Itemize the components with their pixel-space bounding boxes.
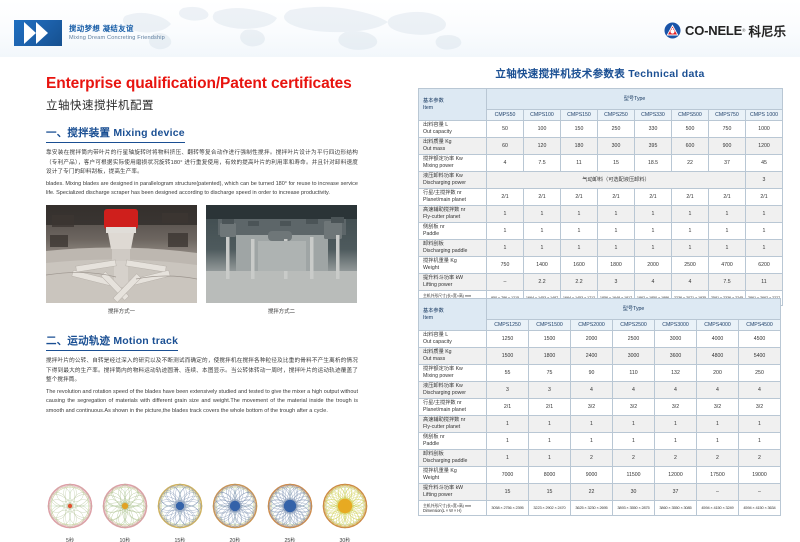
cell: 2.2 bbox=[524, 274, 561, 291]
cell: 15 bbox=[487, 484, 529, 501]
cell: 1 bbox=[529, 433, 571, 450]
cell: 4000 bbox=[697, 331, 739, 348]
motion-track-cell: 15秒 bbox=[156, 482, 204, 542]
header-item-cell: 基本参数Item bbox=[419, 299, 487, 331]
chevron-logo-icon bbox=[14, 20, 62, 46]
cell: 2/1 bbox=[561, 189, 598, 206]
motion-track-label: 20秒 bbox=[211, 537, 259, 542]
cell: 3 bbox=[487, 382, 529, 399]
cell: 7000 bbox=[487, 467, 529, 484]
cell: 11 bbox=[746, 274, 783, 291]
cell: 1 bbox=[598, 223, 635, 240]
header-item-cell: 基本参数Item bbox=[419, 89, 487, 121]
cell: 1 bbox=[571, 433, 613, 450]
cell: 1250 bbox=[487, 331, 529, 348]
brochure-page: 搅动梦想 凝结友谊 Mixing Dream Concreting Friend… bbox=[0, 0, 800, 542]
cell: 2 bbox=[697, 450, 739, 467]
row-label: 出料质量 KgOut mass bbox=[419, 348, 487, 365]
cell: 1000 bbox=[746, 121, 783, 138]
cell: 2/1 bbox=[598, 189, 635, 206]
cell: 1800 bbox=[529, 348, 571, 365]
model-cell: CMPS150 bbox=[561, 110, 598, 121]
cell: 180 bbox=[561, 138, 598, 155]
motion-track-label: 10秒 bbox=[101, 537, 149, 542]
cell: 3000 bbox=[613, 348, 655, 365]
page-header: 搅动梦想 凝结友谊 Mixing Dream Concreting Friend… bbox=[0, 0, 800, 57]
cell: 4 bbox=[655, 382, 697, 399]
photo1-caption: 搅拌方式一 bbox=[46, 307, 197, 315]
table-row: 侧刮板 nrPaddle11111111 bbox=[419, 223, 783, 240]
table-row: 行星/主搅拌数 nrPlanet/main planet2/12/13/23/2… bbox=[419, 399, 781, 416]
motion-track-diagram bbox=[321, 482, 369, 530]
motion-track-label: 5秒 bbox=[46, 537, 94, 542]
cell: – bbox=[739, 484, 781, 501]
cell: 1 bbox=[697, 416, 739, 433]
model-cell: CMPS1500 bbox=[529, 320, 571, 331]
cell: 1 bbox=[598, 240, 635, 257]
cell: – bbox=[697, 484, 739, 501]
cell: 1 bbox=[487, 416, 529, 433]
cell: 3860 × 3550 × 3085 bbox=[655, 501, 697, 516]
cell: 110 bbox=[613, 365, 655, 382]
cell: 395 bbox=[635, 138, 672, 155]
cell: 1 bbox=[487, 240, 524, 257]
cell: 2/1 bbox=[529, 399, 571, 416]
cell: 1 bbox=[487, 433, 529, 450]
motion-track-row: 5秒 10秒 15秒 bbox=[46, 482, 358, 542]
section1-heading: 一、搅拌装置 Mixing device bbox=[46, 125, 185, 143]
table-row: 出料质量 KgOut mass1500180024003000360048005… bbox=[419, 348, 781, 365]
cell: 1 bbox=[613, 433, 655, 450]
row-label: 出料质量 KgOut mass bbox=[419, 138, 487, 155]
cell: 5400 bbox=[739, 348, 781, 365]
table-row: 出料容量 LOut capacity5010015025033050075010… bbox=[419, 121, 783, 138]
table-row: 行星/主搅拌数 nrPlanet/main planet2/12/12/12/1… bbox=[419, 189, 783, 206]
header-type-cell: 型号Type bbox=[487, 89, 783, 110]
cell: 2/1 bbox=[746, 189, 783, 206]
motion-track-label: 25秒 bbox=[266, 537, 314, 542]
right-page: 立轴快速搅拌机技术参数表 Technical data 基本参数Item 型号T… bbox=[400, 57, 800, 542]
motion-track-diagram bbox=[101, 482, 149, 530]
cell: 4 bbox=[739, 382, 781, 399]
cell: 1 bbox=[529, 450, 571, 467]
model-cell: CMPS2000 bbox=[571, 320, 613, 331]
cell: 330 bbox=[635, 121, 672, 138]
cell: 37 bbox=[709, 155, 746, 172]
registered-mark-icon: ® bbox=[742, 28, 745, 33]
photo2-caption: 搅拌方式二 bbox=[206, 307, 357, 315]
cell: 1600 bbox=[561, 257, 598, 274]
cell: – bbox=[487, 274, 524, 291]
model-cell: CMPS 1000 bbox=[746, 110, 783, 121]
cell: 1 bbox=[746, 206, 783, 223]
technical-data-title: 立轴快速搅拌机技术参数表 Technical data bbox=[400, 66, 800, 81]
section1-paragraph-cn: 靠安装在搅拌筒内带叶片的行星轴旋转时将物料挤压、翻转等复合动作进行强制性搅拌。搅… bbox=[46, 149, 358, 178]
table-row: 提升料斗功率 kWLifting power–2.22.23447.511 bbox=[419, 274, 783, 291]
company-logo: 搅动梦想 凝结友谊 Mixing Dream Concreting Friend… bbox=[14, 20, 165, 46]
spec-table-1: 基本参数Item 型号Type CMPS50CMPS100CMPS150CMPS… bbox=[418, 88, 783, 306]
cell: 1 bbox=[529, 416, 571, 433]
row-label: 主机外形尺寸(长×宽×高) mmDimension(L × W × H) bbox=[419, 501, 487, 516]
motion-track-diagram bbox=[266, 482, 314, 530]
row-label: 液压卸料功率 KwDischarging power bbox=[419, 382, 487, 399]
table-row: 高速辅助搅拌数 nrFly-cutter planet11111111 bbox=[419, 206, 783, 223]
table-row: 高速辅助搅拌数 nrFly-cutter planet1111111 bbox=[419, 416, 781, 433]
model-cell: CMPS4000 bbox=[697, 320, 739, 331]
row-label: 卸料刮板Discharging paddle bbox=[419, 450, 487, 467]
cell: 2500 bbox=[613, 331, 655, 348]
cell: 4 bbox=[697, 382, 739, 399]
cell: 2500 bbox=[672, 257, 709, 274]
cell: 500 bbox=[672, 121, 709, 138]
cell: 3/2 bbox=[697, 399, 739, 416]
cell: 4 bbox=[487, 155, 524, 172]
cell: 1 bbox=[672, 240, 709, 257]
motion-track-cell: 25秒 bbox=[266, 482, 314, 542]
cell: 1 bbox=[635, 206, 672, 223]
cell: 3/2 bbox=[739, 399, 781, 416]
cell: 50 bbox=[487, 121, 524, 138]
model-cell: CMPS330 bbox=[635, 110, 672, 121]
model-cell: CMPS250 bbox=[598, 110, 635, 121]
row-label: 搅拌额定功率 KwMixing power bbox=[419, 365, 487, 382]
spec-table-2: 基本参数Item 型号Type CMPS1250CMPS1500CMPS2000… bbox=[418, 298, 781, 516]
row-label: 提升料斗功率 kWLifting power bbox=[419, 484, 487, 501]
cell: 2/1 bbox=[635, 189, 672, 206]
cell: 1 bbox=[739, 433, 781, 450]
cell: 100 bbox=[524, 121, 561, 138]
cell: 1 bbox=[524, 223, 561, 240]
cell: 2 bbox=[613, 450, 655, 467]
cell: 1 bbox=[613, 416, 655, 433]
cell: 1 bbox=[571, 416, 613, 433]
cell: 3000 bbox=[655, 331, 697, 348]
table-row: 搅拌额定功率 KwMixing power47.5111518.5223745 bbox=[419, 155, 783, 172]
cell: 1 bbox=[697, 433, 739, 450]
motion-track-diagram bbox=[156, 482, 204, 530]
row-label: 出料容量 LOut capacity bbox=[419, 331, 487, 348]
row-label: 行星/主搅拌数 nrPlanet/main planet bbox=[419, 189, 487, 206]
page-title-en: Enterprise qualification/Patent certific… bbox=[46, 75, 352, 93]
cell: 30 bbox=[613, 484, 655, 501]
motion-track-cell: 30秒 bbox=[321, 482, 369, 542]
cell: 132 bbox=[655, 365, 697, 382]
model-cell: CMPS500 bbox=[672, 110, 709, 121]
spec-table-2-wrap: 基本参数Item 型号Type CMPS1250CMPS1500CMPS2000… bbox=[418, 298, 781, 516]
cell: 1 bbox=[739, 416, 781, 433]
model-cell: CMPS50 bbox=[487, 110, 524, 121]
cell: 8000 bbox=[529, 467, 571, 484]
cell: 1 bbox=[635, 240, 672, 257]
table-row: 搅拌机重量 KgWeight70008000900011500120001750… bbox=[419, 467, 781, 484]
row-label: 高速辅助搅拌数 nrFly-cutter planet bbox=[419, 206, 487, 223]
cell: 15 bbox=[598, 155, 635, 172]
cell: 1 bbox=[561, 206, 598, 223]
cell: 2.2 bbox=[561, 274, 598, 291]
table-row: 搅拌额定功率 KwMixing power557590110132200250 bbox=[419, 365, 781, 382]
row-label: 行星/主搅拌数 nrPlanet/main planet bbox=[419, 399, 487, 416]
cell: 3 bbox=[529, 382, 571, 399]
cell: 3/2 bbox=[571, 399, 613, 416]
cell: 1 bbox=[709, 223, 746, 240]
cell: 1 bbox=[635, 223, 672, 240]
cell: 1200 bbox=[746, 138, 783, 155]
model-cell: CMPS3000 bbox=[655, 320, 697, 331]
cell: 900 bbox=[709, 138, 746, 155]
cell: 1 bbox=[487, 206, 524, 223]
cell: 3223 × 2902 × 2470 bbox=[529, 501, 571, 516]
table-header-row: 基本参数Item 型号Type bbox=[419, 89, 783, 110]
motion-track-cell: 10秒 bbox=[101, 482, 149, 542]
row-label: 侧刮板 nrPaddle bbox=[419, 433, 487, 450]
cell: 2/1 bbox=[487, 399, 529, 416]
header-type-cell: 型号Type bbox=[487, 299, 781, 320]
cell: 150 bbox=[561, 121, 598, 138]
cell: 1 bbox=[524, 206, 561, 223]
cell: 120 bbox=[524, 138, 561, 155]
motion-track-diagram bbox=[211, 482, 259, 530]
table-row: 侧刮板 nrPaddle1111111 bbox=[419, 433, 781, 450]
cell: 4594 × 4150 × 3249 bbox=[697, 501, 739, 516]
row-label: 搅拌机重量 KgWeight bbox=[419, 257, 487, 274]
left-page: Enterprise qualification/Patent certific… bbox=[0, 57, 400, 542]
model-cell: CMPS4500 bbox=[739, 320, 781, 331]
row-label: 出料容量 LOut capacity bbox=[419, 121, 487, 138]
merged-discharging-cell: 气动卸料（可选配液压卸料） bbox=[487, 172, 746, 189]
row-label: 侧刮板 nrPaddle bbox=[419, 223, 487, 240]
table-row: 卸料刮板Discharging paddle11111111 bbox=[419, 240, 783, 257]
table-row: 提升料斗功率 kWLifting power1515223037–– bbox=[419, 484, 781, 501]
cell: 60 bbox=[487, 138, 524, 155]
cell: 4500 bbox=[739, 331, 781, 348]
mixing-blade-photo bbox=[46, 205, 197, 303]
table-row: 出料容量 LOut capacity1250150020002500300040… bbox=[419, 331, 781, 348]
cell: 2400 bbox=[571, 348, 613, 365]
cell: 1 bbox=[655, 416, 697, 433]
mixing-arm-photo bbox=[206, 205, 357, 303]
cell: 1 bbox=[561, 223, 598, 240]
cell: 1500 bbox=[487, 348, 529, 365]
cell: 6200 bbox=[746, 257, 783, 274]
cell: 22 bbox=[571, 484, 613, 501]
photo-row bbox=[46, 205, 358, 303]
cell: 1400 bbox=[524, 257, 561, 274]
cell: 7.5 bbox=[709, 274, 746, 291]
cell: 2 bbox=[739, 450, 781, 467]
cell: 1 bbox=[598, 206, 635, 223]
cell: 75 bbox=[529, 365, 571, 382]
cell: 250 bbox=[739, 365, 781, 382]
cell: 1 bbox=[524, 240, 561, 257]
section-mixing-device: 一、搅拌装置 Mixing device 靠安装在搅拌筒内带叶片的行星轴旋转时将… bbox=[46, 123, 358, 199]
cell: 600 bbox=[672, 138, 709, 155]
table-row: 卸料刮板Discharging paddle1122222 bbox=[419, 450, 781, 467]
cell: 2000 bbox=[635, 257, 672, 274]
cell: 2/1 bbox=[524, 189, 561, 206]
cell: 18.5 bbox=[635, 155, 672, 172]
cell: 9000 bbox=[571, 467, 613, 484]
cell: 1 bbox=[487, 223, 524, 240]
cell: 1 bbox=[672, 206, 709, 223]
row-label: 搅拌机重量 KgWeight bbox=[419, 467, 487, 484]
cell: 300 bbox=[598, 138, 635, 155]
brand-lockup: CO-NELE ® 科尼乐 bbox=[664, 21, 786, 40]
section2-paragraph-cn: 搅拌叶片的公转、自转是经过深入的研究以及不断测试而确定的，使搅拌机在搅拌各种粒径… bbox=[46, 357, 358, 386]
table-row: 出料质量 KgOut mass601201803003956009001200 bbox=[419, 138, 783, 155]
cell: 3893 × 3550 × 2875 bbox=[613, 501, 655, 516]
cell: 2/1 bbox=[487, 189, 524, 206]
row-label: 提升料斗功率 kWLifting power bbox=[419, 274, 487, 291]
cell: 750 bbox=[487, 257, 524, 274]
photo-caption-row: 搅拌方式一 搅拌方式二 bbox=[46, 307, 358, 315]
cell: 4 bbox=[635, 274, 672, 291]
cell: 55 bbox=[487, 365, 529, 382]
table-row: 主机外形尺寸(长×宽×高) mmDimension(L × W × H)3058… bbox=[419, 501, 781, 516]
cell: 1 bbox=[561, 240, 598, 257]
tagline-cn: 搅动梦想 凝结友谊 bbox=[69, 25, 165, 33]
cell: 1 bbox=[746, 223, 783, 240]
cell: 1 bbox=[746, 240, 783, 257]
cell: 4594 × 4150 × 3634 bbox=[739, 501, 781, 516]
cell: 3/2 bbox=[613, 399, 655, 416]
cell: 2 bbox=[571, 450, 613, 467]
section2-paragraph-en: The revolution and rotation speed of the… bbox=[46, 388, 358, 416]
cell: 2 bbox=[655, 450, 697, 467]
cell: 1 bbox=[655, 433, 697, 450]
cell: 11500 bbox=[613, 467, 655, 484]
row-label: 高速辅助搅拌数 nrFly-cutter planet bbox=[419, 416, 487, 433]
section2-heading: 二、运动轨迹 Motion track bbox=[46, 333, 178, 351]
triangle-emblem-icon bbox=[664, 22, 681, 39]
cell: 1800 bbox=[598, 257, 635, 274]
cell: 90 bbox=[571, 365, 613, 382]
cell: 7.5 bbox=[524, 155, 561, 172]
cell: 15 bbox=[529, 484, 571, 501]
cell: 1 bbox=[672, 223, 709, 240]
model-cell: CMPS100 bbox=[524, 110, 561, 121]
cell: 2/1 bbox=[709, 189, 746, 206]
table-row: 液压卸料功率 KwDischarging power3344444 bbox=[419, 382, 781, 399]
cell: 1 bbox=[487, 450, 529, 467]
cell: 3 bbox=[598, 274, 635, 291]
brand-name: CO-NELE bbox=[685, 23, 742, 38]
cell: 37 bbox=[655, 484, 697, 501]
motion-track-cell: 5秒 bbox=[46, 482, 94, 542]
cell: 22 bbox=[672, 155, 709, 172]
cell: 3 bbox=[746, 172, 783, 189]
motion-track-diagram bbox=[46, 482, 94, 530]
motion-track-label: 30秒 bbox=[321, 537, 369, 542]
cell: 2000 bbox=[571, 331, 613, 348]
tagline-en: Mixing Dream Concreting Friendship bbox=[69, 35, 165, 41]
cell: 4800 bbox=[697, 348, 739, 365]
row-label: 搅拌额定功率 KwMixing power bbox=[419, 155, 487, 172]
cell: 4 bbox=[571, 382, 613, 399]
cell: 45 bbox=[746, 155, 783, 172]
cell: 4 bbox=[672, 274, 709, 291]
cell: 3058 × 2756 × 2395 bbox=[487, 501, 529, 516]
cell: 3/2 bbox=[655, 399, 697, 416]
cell: 17500 bbox=[697, 467, 739, 484]
motion-track-cell: 20秒 bbox=[211, 482, 259, 542]
brand-name-cn: 科尼乐 bbox=[748, 21, 786, 40]
table-row: 液压卸料功率 KwDischarging power气动卸料（可选配液压卸料）3 bbox=[419, 172, 783, 189]
cell: 1 bbox=[709, 240, 746, 257]
spec-table-1-wrap: 基本参数Item 型号Type CMPS50CMPS100CMPS150CMPS… bbox=[418, 88, 783, 306]
cell: 2/1 bbox=[672, 189, 709, 206]
cell: 4 bbox=[613, 382, 655, 399]
model-cell: CMPS750 bbox=[709, 110, 746, 121]
cell: 750 bbox=[709, 121, 746, 138]
section-motion-track: 二、运动轨迹 Motion track 搅拌叶片的公转、自转是经过深入的研究以及… bbox=[46, 331, 358, 416]
cell: 1500 bbox=[529, 331, 571, 348]
cell: 3625 × 3230 × 2695 bbox=[571, 501, 613, 516]
cell: 4700 bbox=[709, 257, 746, 274]
cell: 19000 bbox=[739, 467, 781, 484]
page-title-cn: 立轴快速搅拌机配置 bbox=[46, 97, 154, 113]
section1-paragraph-en: blades. Mixing blades are designed in pa… bbox=[46, 180, 358, 199]
table-row: 搅拌机重量 KgWeight75014001600180020002500470… bbox=[419, 257, 783, 274]
table-header-row: 基本参数Item 型号Type bbox=[419, 299, 781, 320]
cell: 1 bbox=[709, 206, 746, 223]
model-cell: CMPS2500 bbox=[613, 320, 655, 331]
row-label: 液压卸料功率 KwDischarging power bbox=[419, 172, 487, 189]
cell: 11 bbox=[561, 155, 598, 172]
cell: 250 bbox=[598, 121, 635, 138]
model-cell: CMPS1250 bbox=[487, 320, 529, 331]
cell: 3600 bbox=[655, 348, 697, 365]
cell: 12000 bbox=[655, 467, 697, 484]
row-label: 卸料刮板Discharging paddle bbox=[419, 240, 487, 257]
cell: 200 bbox=[697, 365, 739, 382]
motion-track-label: 15秒 bbox=[156, 537, 204, 542]
